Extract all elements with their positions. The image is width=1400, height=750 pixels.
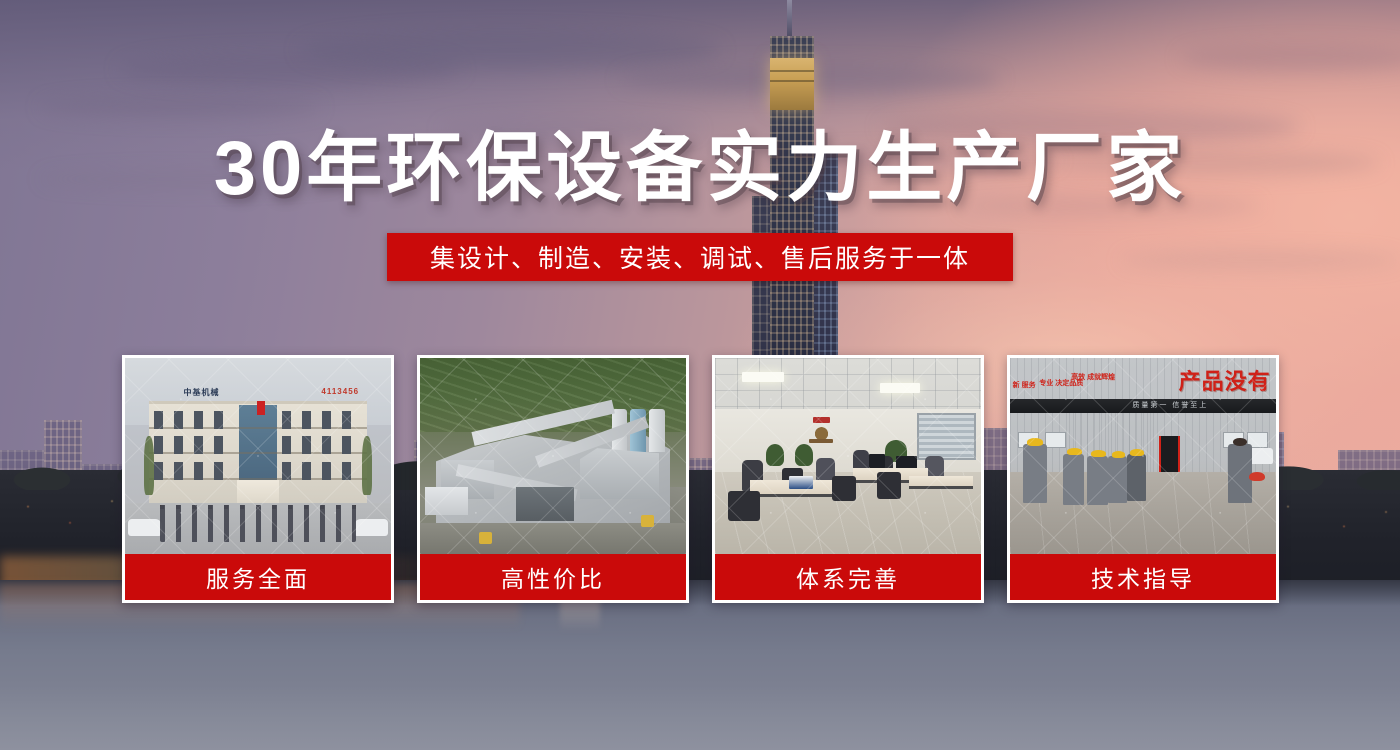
feature-card[interactable]: 新 服务 专业 决定品质 高效 成就辉煌 产品没有 质量第一 信誉至上 xyxy=(1007,355,1279,603)
factory-slogan-text: 新 服务 xyxy=(1013,382,1036,391)
red-helmet-icon xyxy=(1249,472,1265,482)
factory-band-text: 质量第一 信誉至上 xyxy=(1132,400,1208,410)
feature-card[interactable]: 中基机械 4113456 服务全面 xyxy=(122,355,394,603)
wall-emblem-icon xyxy=(803,417,840,444)
factory-exterior-workers-photo: 新 服务 专业 决定品质 高效 成就辉煌 产品没有 质量第一 信誉至上 xyxy=(1010,358,1276,554)
card-caption: 服务全面 xyxy=(125,554,391,600)
feature-card[interactable]: 体系完善 xyxy=(712,355,984,603)
page-title: 30年环保设备实力生产厂家 xyxy=(0,128,1400,210)
tower-illuminated-crown xyxy=(770,58,814,110)
feature-card-row: 中基机械 4113456 服务全面 xyxy=(122,355,1279,603)
subtitle-banner: 集设计、制造、安装、调试、售后服务于一体 xyxy=(387,233,1013,281)
aerial-industrial-plant-photo xyxy=(420,358,686,554)
office-interior-staff-photo xyxy=(715,358,981,554)
subtitle-text: 集设计、制造、安装、调试、售后服务于一体 xyxy=(430,239,970,275)
card-caption: 高性价比 xyxy=(420,554,686,600)
card-caption: 技术指导 xyxy=(1010,554,1276,600)
factory-slogan-text: 高效 成就辉煌 xyxy=(1071,374,1115,383)
promotional-banner: 30年环保设备实力生产厂家 集设计、制造、安装、调试、售后服务于一体 xyxy=(0,0,1400,750)
card-caption: 体系完善 xyxy=(715,554,981,600)
company-headquarters-building-photo: 中基机械 4113456 xyxy=(125,358,391,554)
building-phone-text: 4113456 xyxy=(321,387,359,396)
building-sign-text: 中基机械 xyxy=(184,387,220,398)
factory-wall-headline-text: 产品没有 xyxy=(1179,364,1271,396)
feature-card[interactable]: 高性价比 xyxy=(417,355,689,603)
